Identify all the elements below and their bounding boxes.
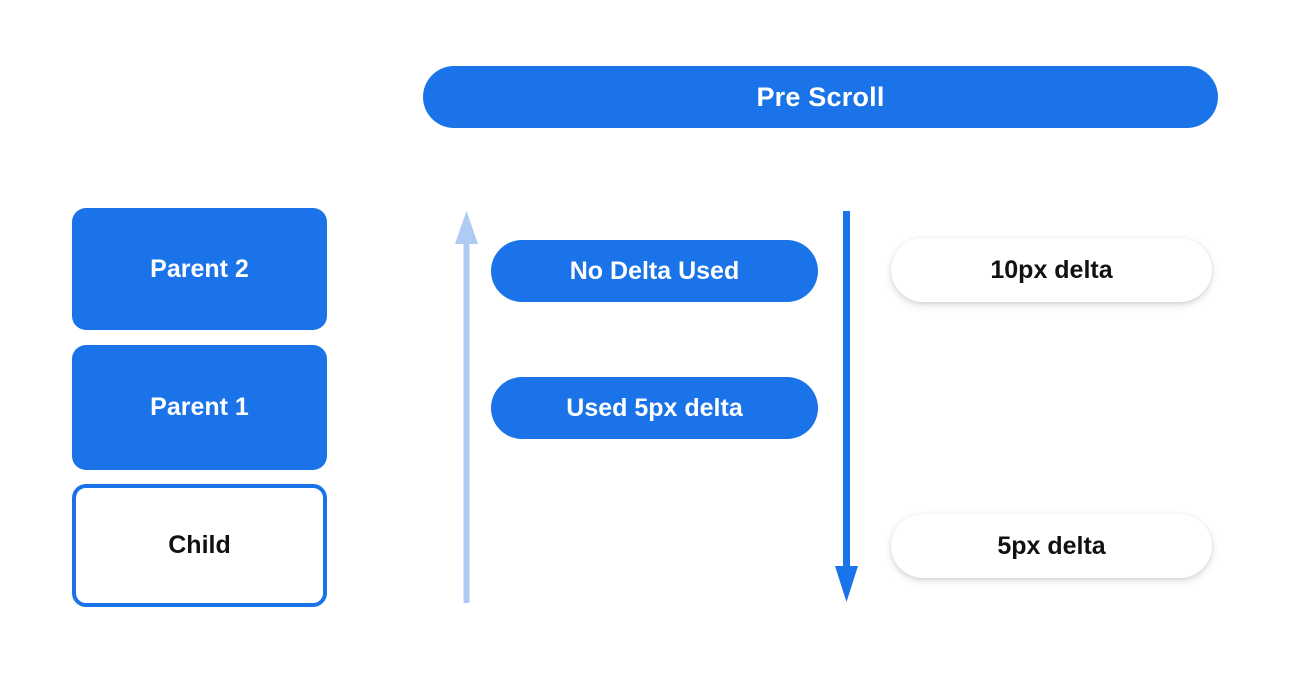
pill-used-5px-delta: Used 5px delta (491, 377, 818, 439)
node-parent-1: Parent 1 (72, 345, 327, 470)
pill-5px-delta: 5px delta (891, 514, 1212, 578)
pill-10px-delta: 10px delta (891, 238, 1212, 302)
diagram-canvas: Pre Scroll Parent 2 Parent 1 Child No De… (0, 0, 1312, 680)
node-parent-1-label: Parent 1 (150, 395, 249, 420)
node-parent-2-label: Parent 2 (150, 257, 249, 282)
pill-no-delta-used-label: No Delta Used (570, 259, 739, 284)
node-parent-2: Parent 2 (72, 208, 327, 330)
scroll-down-arrow-icon (830, 205, 864, 607)
bubble-up-arrow-icon (450, 205, 484, 607)
pill-10px-delta-label: 10px delta (990, 258, 1112, 283)
pill-used-5px-delta-label: Used 5px delta (566, 396, 742, 421)
pill-5px-delta-label: 5px delta (997, 534, 1105, 559)
pill-no-delta-used: No Delta Used (491, 240, 818, 302)
node-child-label: Child (168, 533, 231, 558)
page-title: Pre Scroll (756, 84, 884, 111)
pre-scroll-title-bar: Pre Scroll (423, 66, 1218, 128)
node-child: Child (72, 484, 327, 607)
